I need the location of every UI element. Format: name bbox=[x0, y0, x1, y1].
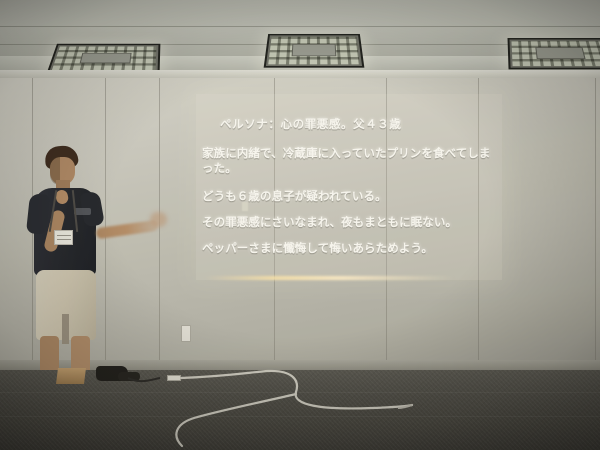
presenter-arm-extended bbox=[96, 220, 159, 240]
tshirt-chest-print bbox=[74, 208, 91, 215]
power-cables bbox=[0, 360, 600, 450]
presenter bbox=[22, 146, 162, 392]
shorts-inseam-shadow bbox=[62, 314, 69, 344]
slide-paragraph: ペッパーさまに懺悔して悔いあらためよう。 bbox=[202, 241, 498, 256]
slide-artifact bbox=[242, 202, 248, 211]
ceiling-light-fixture-center bbox=[264, 34, 365, 68]
name-badge bbox=[54, 230, 73, 245]
wall-panel-seam bbox=[595, 78, 596, 370]
light-switch-plate[interactable] bbox=[181, 325, 191, 342]
slide-paragraph: 家族に内緒で、冷蔵庫に入っていたプリンを食べてしまった。 bbox=[202, 146, 498, 176]
slide-paragraph: その罪悪感にさいなまれ、夜もまともに眠ない。 bbox=[202, 215, 498, 230]
wall-top-rail bbox=[0, 70, 600, 78]
slide-title: ペルソナ：心の罪悪感。父４３歳 bbox=[220, 116, 402, 132]
presenter-hand-extended bbox=[150, 212, 167, 227]
projected-slide: ペルソナ：心の罪悪感。父４３歳 家族に内緒で、冷蔵庫に入っていたプリンを食べてし… bbox=[196, 94, 502, 280]
photo-scene: ペルソナ：心の罪悪感。父４３歳 家族に内緒で、冷蔵庫に入っていたプリンを食べてし… bbox=[0, 0, 600, 450]
ceiling-light-fixture-right bbox=[508, 38, 600, 69]
